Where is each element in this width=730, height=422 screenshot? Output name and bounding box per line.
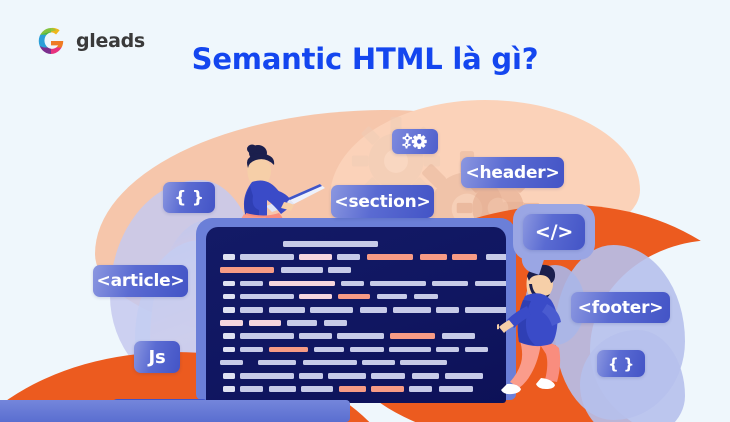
code-line-segment — [414, 294, 437, 300]
code-slash-badge[interactable]: </> — [523, 214, 585, 250]
code-line-segment — [337, 333, 384, 339]
code-line-segment — [303, 360, 357, 366]
code-line-segment — [436, 307, 459, 313]
code-line-segment — [339, 386, 366, 392]
html-tag-badge-section[interactable]: <section> — [331, 185, 434, 218]
code-line-segment — [310, 307, 353, 313]
html-tag-badge-footer[interactable]: <footer> — [571, 292, 670, 323]
code-line-segment — [338, 294, 370, 300]
code-line-segment — [299, 294, 331, 300]
code-line-segment — [367, 254, 414, 260]
code-line-segment — [240, 294, 294, 300]
code-line-segment — [223, 386, 236, 392]
code-line-segment — [328, 373, 366, 379]
code-line-segment — [240, 373, 294, 379]
code-line-segment — [301, 386, 333, 392]
code-line-segment — [258, 360, 296, 366]
code-line-segment — [287, 320, 318, 326]
code-line-segment — [420, 254, 447, 260]
code-line-segment — [220, 320, 243, 326]
code-line-segment — [370, 281, 426, 287]
curly-braces-badge-right-label: { } — [608, 355, 634, 373]
code-line-segment — [445, 373, 483, 379]
code-line-segment — [314, 347, 345, 353]
code-line-segment — [400, 360, 447, 366]
code-line-segment — [249, 320, 281, 326]
code-line-segment — [269, 347, 309, 353]
code-line-segment — [393, 307, 431, 313]
curly-braces-badge-left-label: { } — [174, 188, 204, 208]
code-line-segment — [240, 386, 263, 392]
code-line-segment — [390, 333, 435, 339]
gears-settings-badge[interactable] — [392, 129, 438, 154]
code-line-segment — [389, 347, 430, 353]
code-line-segment — [442, 333, 474, 339]
code-line-segment — [465, 347, 488, 353]
monitor-base — [0, 400, 350, 422]
code-line-segment — [281, 267, 322, 273]
code-line-segment — [269, 281, 336, 287]
javascript-badge-label: Js — [148, 347, 165, 368]
page-title: Semantic HTML là gì? — [0, 42, 730, 76]
code-line-segment — [240, 347, 263, 353]
curly-braces-badge-left[interactable]: { } — [163, 182, 215, 213]
code-line-segment — [371, 373, 405, 379]
code-line-segment — [240, 281, 263, 287]
code-line-segment — [412, 373, 439, 379]
code-line-segment — [377, 294, 408, 300]
code-line-segment — [240, 333, 294, 339]
code-line-segment — [223, 307, 236, 313]
code-line-segment — [436, 347, 459, 353]
code-line-segment — [269, 307, 305, 313]
code-line-segment — [223, 254, 236, 260]
html-tag-badge-article[interactable]: <article> — [93, 265, 188, 297]
code-line-segment — [350, 347, 384, 353]
code-line-segment — [328, 267, 351, 273]
code-slash-badge-label: </> — [535, 221, 573, 243]
html-tag-badge-article-label: <article> — [97, 271, 185, 291]
html-tag-badge-header[interactable]: <header> — [461, 157, 564, 188]
code-line-segment — [341, 281, 364, 287]
code-line-segment — [269, 386, 296, 392]
code-line-segment — [337, 254, 360, 260]
code-line-segment — [223, 333, 236, 339]
html-tag-badge-section-label: <section> — [334, 192, 430, 212]
html-tag-badge-header-label: <header> — [465, 163, 559, 183]
code-line-segment — [439, 386, 473, 392]
code-line-segment — [371, 386, 403, 392]
code-line-segment — [360, 307, 387, 313]
code-line-segment — [486, 254, 507, 260]
code-line-segment — [299, 373, 322, 379]
code-line-segment — [240, 307, 263, 313]
code-line-segment — [223, 281, 236, 287]
code-line-segment — [240, 254, 294, 260]
html-tag-badge-footer-label: <footer> — [578, 298, 664, 318]
code-line-segment — [432, 281, 468, 287]
code-line-segment — [324, 320, 347, 326]
code-editor-screen — [206, 227, 506, 403]
code-line-segment — [409, 386, 432, 392]
desktop-monitor — [196, 218, 516, 400]
code-line-segment — [223, 294, 236, 300]
code-line-segment — [220, 360, 243, 366]
code-line-segment — [283, 241, 378, 247]
code-line-segment — [223, 373, 236, 379]
code-line-segment — [223, 347, 236, 353]
curly-braces-badge-right[interactable]: { } — [597, 350, 645, 377]
illustration-canvas: </> — [0, 0, 730, 422]
javascript-badge[interactable]: Js — [134, 341, 180, 373]
man-pointing — [497, 262, 587, 402]
code-line-segment — [362, 360, 394, 366]
code-line-segment — [452, 254, 477, 260]
code-line-segment — [220, 267, 274, 273]
code-line-segment — [299, 254, 331, 260]
code-line-segment — [299, 333, 331, 339]
